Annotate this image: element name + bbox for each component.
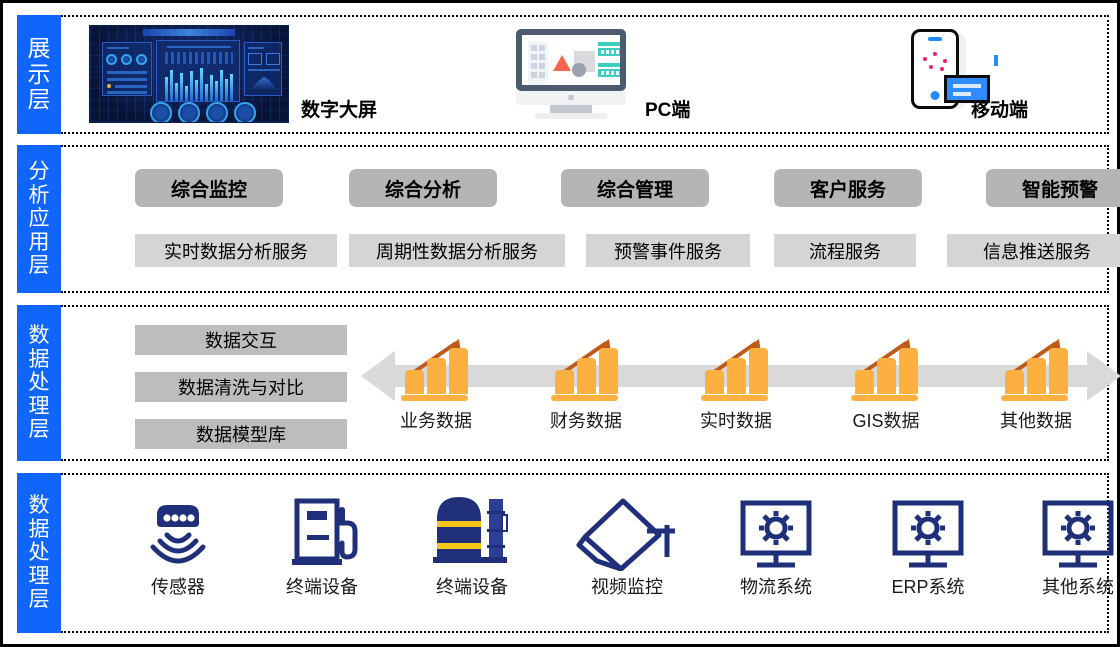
bar-chart-growth-icon bbox=[851, 335, 921, 403]
service-alert-event[interactable]: 预警事件服务 bbox=[586, 234, 750, 267]
monitor-base bbox=[535, 113, 608, 119]
layer-tab-char: 层 bbox=[29, 418, 50, 442]
layer-tab-presentation: 展 示 层 bbox=[17, 15, 61, 134]
layer-tab-char: 处 bbox=[29, 371, 50, 395]
layer-data-processing: 数 据 处 理 层 数据交互 数据清洗与对比 数据模型库 bbox=[17, 305, 1109, 461]
layer-body-presentation: 数字大屏 bbox=[61, 15, 1109, 134]
monitor-gear-icon bbox=[1023, 497, 1120, 571]
app-module-comprehensive-monitoring[interactable]: 综合监控 bbox=[135, 169, 283, 207]
dashboard-left-panel bbox=[102, 42, 152, 96]
layer-analysis-application: 分 析 应 用 层 综合监控 综合分析 综合管理 客户服务 智能预警 实时数据分… bbox=[17, 145, 1109, 293]
device-sensor[interactable] bbox=[123, 499, 233, 571]
monitor-gear-icon bbox=[873, 497, 983, 571]
layer-tab-char: 数 bbox=[29, 494, 50, 518]
process-box-data-cleaning[interactable]: 数据清洗与对比 bbox=[135, 372, 347, 402]
device-label-logistics: 物流系统 bbox=[721, 573, 831, 599]
device-label-terminal-tank: 终端设备 bbox=[417, 573, 527, 599]
device-terminal-fuel[interactable] bbox=[267, 495, 377, 571]
device-label-sensor: 传感器 bbox=[123, 573, 233, 599]
data-source-label-business: 业务数据 bbox=[391, 407, 481, 433]
layer-tab-char: 层 bbox=[29, 588, 50, 612]
data-source-label-gis: GIS数据 bbox=[841, 407, 931, 433]
app-module-comprehensive-management[interactable]: 综合管理 bbox=[561, 169, 709, 207]
app-module-customer-service[interactable]: 客户服务 bbox=[774, 169, 922, 207]
dashboard-title-bar bbox=[143, 29, 235, 36]
device-logistics-system[interactable] bbox=[721, 497, 831, 571]
data-source-label-realtime: 实时数据 bbox=[691, 407, 781, 433]
monitor-screen bbox=[522, 35, 620, 85]
device-label-erp: ERP系统 bbox=[873, 573, 983, 599]
desktop-monitor-icon bbox=[516, 29, 626, 121]
layer-tab-data-collection: 数 据 处 理 层 bbox=[17, 473, 61, 633]
phone-home-button bbox=[931, 91, 940, 100]
monitor-stand bbox=[550, 105, 592, 113]
layer-tab-char: 理 bbox=[29, 395, 50, 419]
app-module-comprehensive-analysis[interactable]: 综合分析 bbox=[349, 169, 497, 207]
layer-tab-data-processing: 数 据 处 理 层 bbox=[17, 305, 61, 461]
phone-side-button bbox=[994, 55, 998, 66]
data-source-label-finance: 财务数据 bbox=[541, 407, 631, 433]
layer-tab-char: 分 bbox=[29, 160, 50, 184]
device-cctv[interactable] bbox=[567, 495, 687, 571]
device-label-terminal-fuel: 终端设备 bbox=[267, 573, 377, 599]
bar-chart-growth-icon bbox=[551, 335, 621, 403]
service-realtime-data-analysis[interactable]: 实时数据分析服务 bbox=[135, 234, 337, 267]
data-source-label-other: 其他数据 bbox=[991, 407, 1081, 433]
layer-body-analysis: 综合监控 综合分析 综合管理 客户服务 智能预警 实时数据分析服务 周期性数据分… bbox=[61, 145, 1109, 293]
device-label-other: 其他系统 bbox=[1023, 573, 1120, 599]
layer-tab-char: 据 bbox=[29, 348, 50, 372]
sensor-wifi-icon bbox=[123, 499, 233, 571]
presentation-label-big-screen: 数字大屏 bbox=[301, 95, 377, 122]
presentation-label-pc: PC端 bbox=[645, 95, 690, 122]
layer-tab-char: 理 bbox=[29, 565, 50, 589]
device-erp-system[interactable] bbox=[873, 497, 983, 571]
layer-tab-char: 示 bbox=[28, 62, 51, 88]
presentation-label-mobile: 移动端 bbox=[971, 95, 1028, 122]
layer-tab-char: 应 bbox=[29, 207, 50, 231]
fuel-dispenser-icon bbox=[267, 495, 377, 571]
service-process[interactable]: 流程服务 bbox=[774, 234, 916, 267]
layer-tab-char: 析 bbox=[29, 184, 50, 208]
layer-tab-char: 展 bbox=[28, 36, 51, 62]
process-box-data-interaction[interactable]: 数据交互 bbox=[135, 325, 347, 355]
layer-presentation: 展 示 层 bbox=[17, 15, 1109, 134]
layer-tab-analysis: 分 析 应 用 层 bbox=[17, 145, 61, 293]
layer-tab-char: 层 bbox=[29, 254, 50, 278]
layer-tab-char: 层 bbox=[28, 87, 51, 113]
cctv-camera-icon bbox=[567, 495, 687, 571]
service-periodic-data-analysis[interactable]: 周期性数据分析服务 bbox=[349, 234, 565, 267]
layer-tab-char: 用 bbox=[29, 231, 50, 255]
device-label-cctv: 视频监控 bbox=[567, 573, 687, 599]
service-information-push[interactable]: 信息推送服务 bbox=[947, 234, 1120, 267]
layer-tab-char: 据 bbox=[29, 518, 50, 542]
layer-tab-char: 数 bbox=[29, 324, 50, 348]
device-terminal-tank[interactable] bbox=[417, 489, 527, 571]
bar-chart-growth-icon bbox=[1001, 335, 1071, 403]
layer-body-data-processing: 数据交互 数据清洗与对比 数据模型库 业务数据 bbox=[61, 305, 1109, 461]
architecture-diagram-frame: 展 示 层 bbox=[0, 0, 1120, 647]
storage-tank-icon bbox=[417, 489, 527, 571]
monitor-power-dot bbox=[569, 95, 574, 100]
layer-body-data-collection: 传感器 终端设备 bbox=[61, 473, 1109, 633]
dashboard-center-panel bbox=[156, 40, 240, 102]
phone-speaker bbox=[928, 37, 942, 41]
app-module-intelligent-alert[interactable]: 智能预警 bbox=[986, 169, 1120, 207]
layer-data-collection: 数 据 处 理 层 传感器 bbox=[17, 473, 1109, 633]
bar-chart-growth-icon bbox=[701, 335, 771, 403]
monitor-bezel bbox=[516, 29, 626, 91]
dashboard-right-panel bbox=[244, 42, 282, 96]
big-screen-dashboard-icon bbox=[89, 25, 289, 123]
layer-tab-char: 处 bbox=[29, 541, 50, 565]
monitor-gear-icon bbox=[721, 497, 831, 571]
bar-chart-growth-icon bbox=[401, 335, 471, 403]
process-box-data-model-library[interactable]: 数据模型库 bbox=[135, 419, 347, 449]
device-other-system[interactable] bbox=[1023, 497, 1120, 571]
